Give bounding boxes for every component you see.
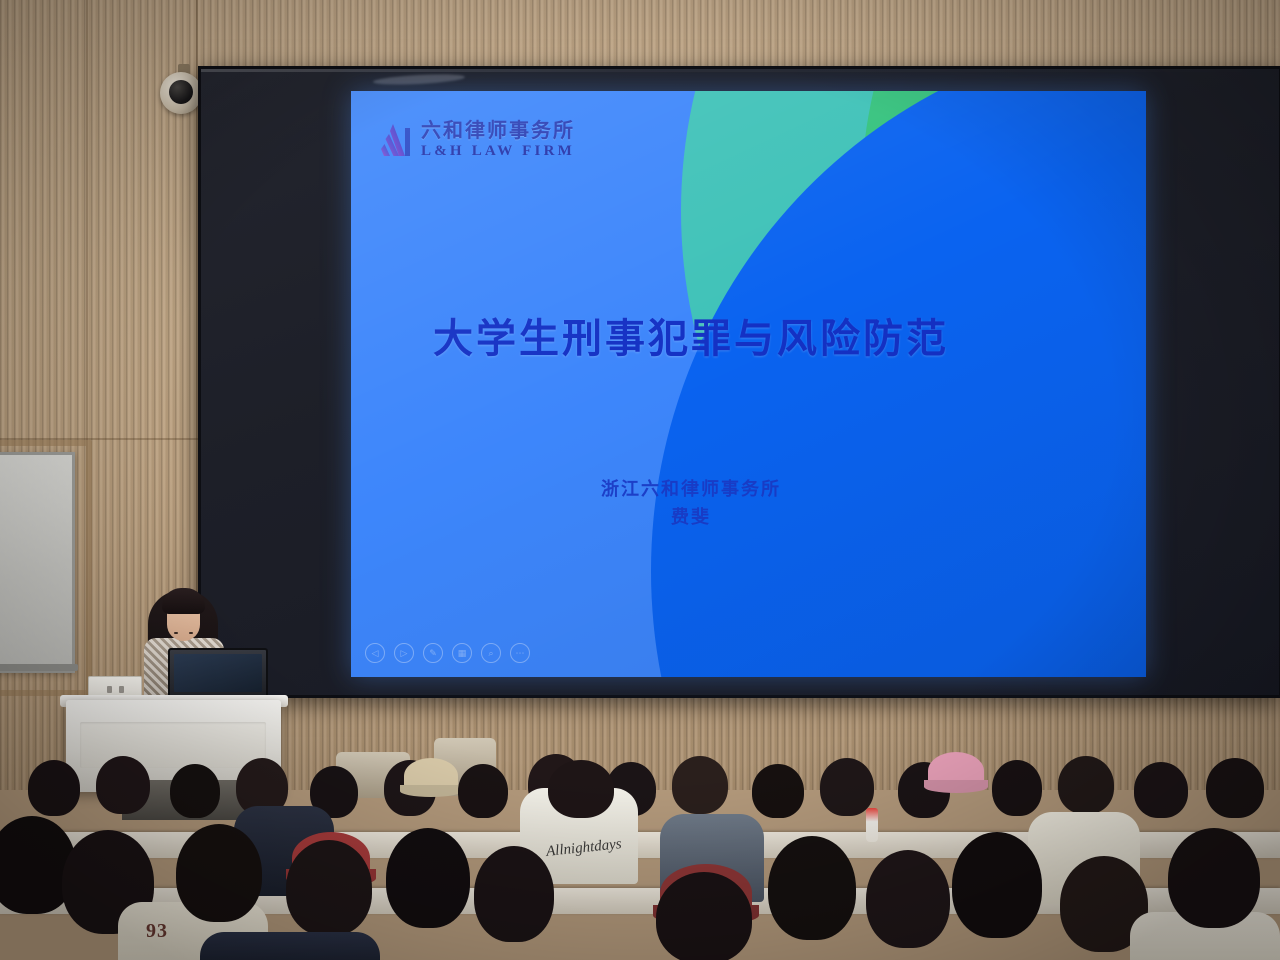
audience-head <box>1058 756 1114 814</box>
bezel-highlight <box>201 69 1279 72</box>
audience-head <box>656 872 752 960</box>
audience-head <box>866 850 950 948</box>
audience-head <box>386 828 470 928</box>
water-bottle <box>866 808 878 842</box>
audience-head <box>1134 762 1188 818</box>
audience-head <box>672 756 728 814</box>
law-firm-logo: 六和律师事务所 L&H LAW FIRM <box>379 121 575 159</box>
subtitle-organization: 浙江六和律师事务所 <box>351 476 1031 504</box>
audience-head <box>992 760 1042 816</box>
audience-shirt <box>200 932 380 960</box>
slide-thumbnails-icon[interactable]: ▦ <box>452 643 472 663</box>
monitor-screen <box>174 654 262 692</box>
slide-subtitle: 浙江六和律师事务所 费斐 <box>351 476 1031 532</box>
logo-english-name: L&H LAW FIRM <box>421 144 575 159</box>
audience-head <box>820 758 874 816</box>
wall-display[interactable]: 六和律师事务所 L&H LAW FIRM 大学生刑事犯罪与风险防范 浙江六和律师… <box>198 66 1280 698</box>
subtitle-presenter: 费斐 <box>351 504 1031 532</box>
audience-head <box>170 764 220 818</box>
presenter-eye <box>189 632 193 634</box>
audience-head <box>96 756 150 814</box>
logo-chinese-name: 六和律师事务所 <box>421 121 575 141</box>
shirt-number-graphic: 93 <box>146 920 168 943</box>
lh-law-firm-logo-mark <box>379 122 413 158</box>
presenter-fringe <box>162 588 205 614</box>
zoom-magnifier-icon[interactable]: ⌕ <box>481 643 501 663</box>
next-slide-icon[interactable]: ▷ <box>394 643 414 663</box>
audience-head <box>1168 828 1260 928</box>
audience-head <box>752 764 804 818</box>
previous-slide-icon[interactable]: ◁ <box>365 643 385 663</box>
audience-head <box>1206 758 1264 818</box>
bezel-reflection <box>373 73 465 87</box>
slide-title: 大学生刑事犯罪与风险防范 <box>351 306 1031 364</box>
whiteboard-marker-tray <box>0 664 78 671</box>
audience-head <box>28 760 80 816</box>
audience-cap <box>404 758 458 794</box>
presentation-slide[interactable]: 六和律师事务所 L&H LAW FIRM 大学生刑事犯罪与风险防范 浙江六和律师… <box>351 91 1146 677</box>
more-options-icon[interactable]: ⋯ <box>510 643 530 663</box>
audience-head <box>768 836 856 940</box>
presenter-toolbar[interactable]: ◁ ▷ ✎ ▦ ⌕ ⋯ <box>365 643 530 663</box>
lecture-hall-photo: 六和律师事务所 L&H LAW FIRM 大学生刑事犯罪与风险防范 浙江六和律师… <box>0 0 1280 960</box>
audience-head <box>548 760 614 818</box>
audience-head <box>952 832 1042 938</box>
presenter-eye <box>174 632 178 634</box>
audience-cap <box>928 752 984 790</box>
audience-head <box>458 764 508 818</box>
wall-whiteboard <box>0 452 75 673</box>
pen-annotation-icon[interactable]: ✎ <box>423 643 443 663</box>
audience-head <box>286 840 372 936</box>
ceiling-speaker-icon <box>160 72 202 114</box>
audience-area: Allnightdays 93 <box>0 736 1280 960</box>
audience-head <box>474 846 554 942</box>
audience-head <box>176 824 262 922</box>
